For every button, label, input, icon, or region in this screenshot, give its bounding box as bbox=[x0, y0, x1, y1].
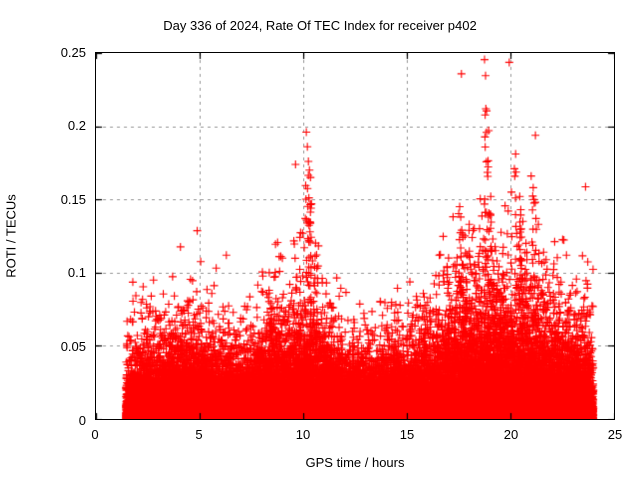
y-tick-label: 0.25 bbox=[61, 46, 86, 59]
axis-tick-marks bbox=[96, 53, 614, 419]
x-axis-label: GPS time / hours bbox=[95, 455, 615, 470]
x-tick-label: 15 bbox=[400, 428, 414, 441]
page-title: Day 336 of 2024, Rate Of TEC Index for r… bbox=[0, 18, 640, 33]
x-tick-label: 20 bbox=[504, 428, 518, 441]
x-tick-label: 5 bbox=[195, 428, 202, 441]
x-tick-label: 10 bbox=[296, 428, 310, 441]
plot-area bbox=[95, 52, 615, 420]
y-tick-label: 0.15 bbox=[61, 193, 86, 206]
roti-scatter-figure: Day 336 of 2024, Rate Of TEC Index for r… bbox=[0, 0, 640, 480]
y-tick-label: 0.2 bbox=[68, 119, 86, 132]
x-tick-label: 25 bbox=[608, 428, 622, 441]
y-tick-label: 0.1 bbox=[68, 266, 86, 279]
y-tick-label: 0 bbox=[79, 414, 86, 427]
x-axis-tick-labels: 0510152025 bbox=[95, 428, 615, 446]
y-axis-tick-labels: 00.050.10.150.20.25 bbox=[0, 52, 86, 420]
x-tick-label: 0 bbox=[91, 428, 98, 441]
y-tick-label: 0.05 bbox=[61, 340, 86, 353]
